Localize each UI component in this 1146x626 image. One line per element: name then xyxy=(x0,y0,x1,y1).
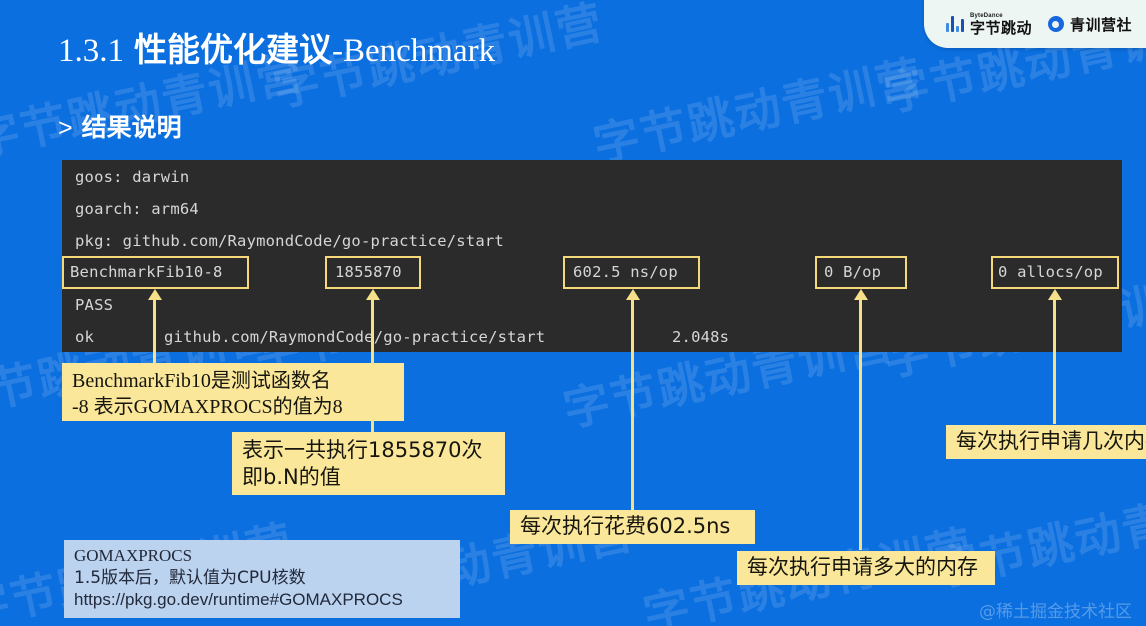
subtitle-label: 结果说明 xyxy=(82,113,182,142)
note-line: 每次执行申请几次内存 xyxy=(956,428,1146,455)
page-title: 1.3.1性能优化建议-Benchmark xyxy=(58,33,495,68)
note-allocs-per-op: 每次执行申请几次内存 xyxy=(946,425,1146,459)
iterations-value: 1855870 xyxy=(335,263,402,281)
terminal-ok-package: github.com/RaymondCode/go-practice/start xyxy=(164,328,545,346)
watermark-text: 字节跳动青训营 xyxy=(587,41,929,175)
infobox-description: 1.5版本后，默认值为CPU核数 xyxy=(74,567,450,589)
title-chinese: 性能优化建议 xyxy=(134,30,332,69)
allocs-per-op-value: 0 allocs/op xyxy=(998,263,1103,281)
section-subtitle: >结果说明 xyxy=(58,108,182,144)
terminal-ok-status: ok xyxy=(75,328,94,346)
arrow-ns-per-op xyxy=(631,298,634,510)
note-line: -8 表示GOMAXPROCS的值为8 xyxy=(72,394,394,420)
benchmark-name-value: BenchmarkFib10-8 xyxy=(70,263,223,281)
bytes-per-op-value: 0 B/op xyxy=(824,263,881,281)
title-english: -Benchmark xyxy=(332,33,495,69)
note-iterations: 表示一共执行1855870次 即b.N的值 xyxy=(232,432,505,495)
note-line: 即b.N的值 xyxy=(242,464,495,491)
terminal-ok-time: 2.048s xyxy=(672,328,729,346)
arrow-bytes-per-op xyxy=(859,298,862,550)
bytedance-logo: ByteDance 字节跳动 xyxy=(946,13,1032,36)
circle-ring-icon xyxy=(1048,16,1064,32)
infobox-url[interactable]: https://pkg.go.dev/runtime#GOMAXPROCS xyxy=(74,589,450,611)
terminal-line-goos: goos: darwin xyxy=(75,168,189,186)
terminal-output: goos: darwin goarch: arm64 pkg: github.c… xyxy=(62,160,1122,352)
terminal-line-pass: PASS xyxy=(75,296,113,314)
credit-watermark: @稀土掘金技术社区 xyxy=(979,597,1132,622)
note-line: BenchmarkFib10是测试函数名 xyxy=(72,368,394,394)
note-benchmark-name: BenchmarkFib10是测试函数名 -8 表示GOMAXPROCS的值为8 xyxy=(62,363,404,421)
bytedance-en-label: ByteDance xyxy=(970,13,1032,19)
ns-per-op-value: 602.5 ns/op xyxy=(573,263,678,281)
bytedance-bars-icon xyxy=(946,16,964,32)
note-line: 每次执行申请多大的内存 xyxy=(747,554,985,581)
note-ns-per-op: 每次执行花费602.5ns xyxy=(510,510,755,544)
gomaxprocs-infobox: GOMAXPROCS 1.5版本后，默认值为CPU核数 https://pkg.… xyxy=(64,540,460,618)
qingxunying-logo: 青训营社 xyxy=(1048,14,1132,35)
terminal-line-goarch: goarch: arm64 xyxy=(75,200,199,218)
qingxunying-label: 青训营社 xyxy=(1070,14,1132,35)
terminal-line-pkg: pkg: github.com/RaymondCode/go-practice/… xyxy=(75,232,504,250)
note-line: 表示一共执行1855870次 xyxy=(242,437,495,464)
arrow-allocs-per-op xyxy=(1053,298,1056,424)
brand-badge: ByteDance 字节跳动 青训营社 xyxy=(924,0,1146,48)
bytedance-cn-label: 字节跳动 xyxy=(970,21,1032,36)
note-bytes-per-op: 每次执行申请多大的内存 xyxy=(737,551,995,585)
arrow-benchmark-name xyxy=(153,298,156,364)
infobox-title: GOMAXPROCS xyxy=(74,545,450,567)
slide-canvas: 字节跳动青训营 字节跳动青训营 字节跳动青训营 字节跳动青训营 字节跳动青训营 … xyxy=(0,0,1146,626)
note-line: 每次执行花费602.5ns xyxy=(520,513,745,540)
caret-icon: > xyxy=(58,114,73,142)
title-number: 1.3.1 xyxy=(58,33,124,69)
